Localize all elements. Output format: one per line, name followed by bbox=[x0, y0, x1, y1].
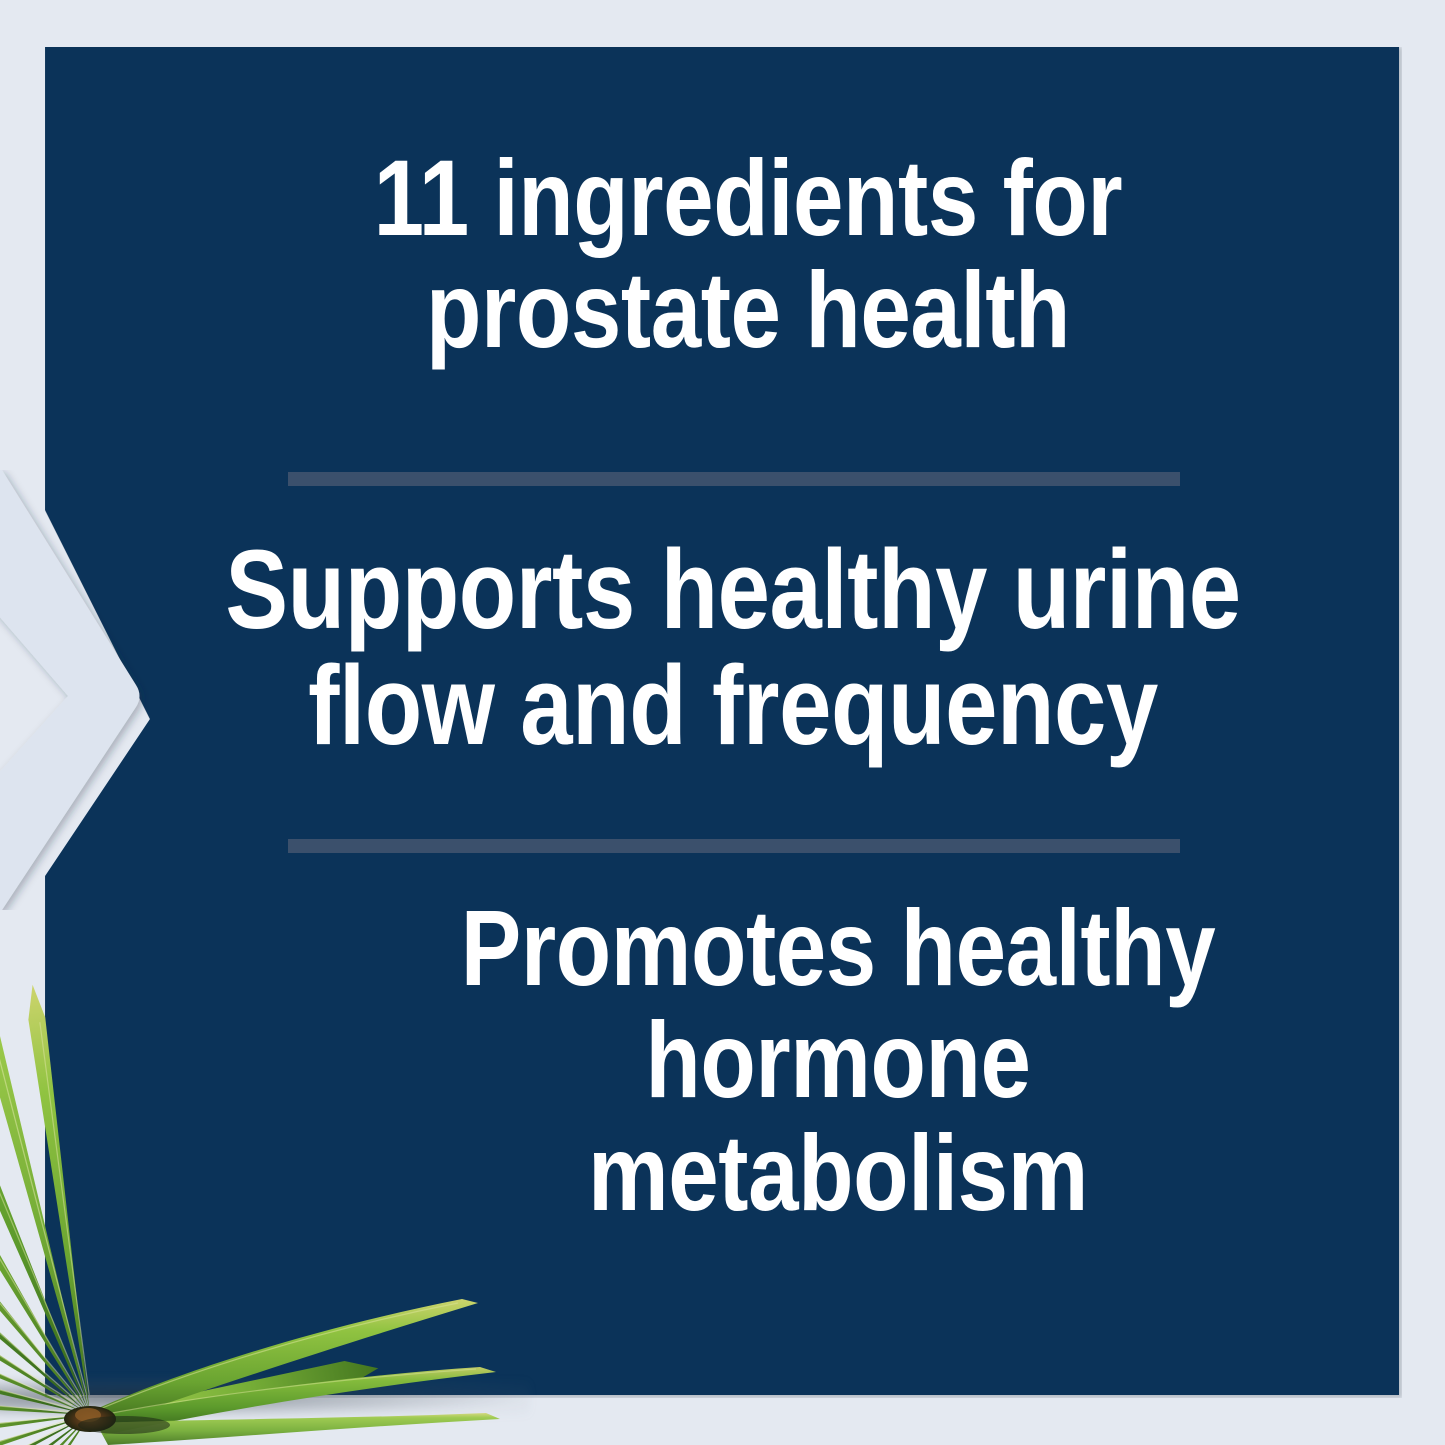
benefit-headline-hormone-metabolism: Promotes healthy hormone metabolism bbox=[384, 892, 1291, 1229]
benefit-headline-urine-flow: Supports healthy urine flow and frequenc… bbox=[208, 532, 1258, 765]
divider-2 bbox=[288, 839, 1180, 853]
benefit-headline-ingredients: 11 ingredients for prostate health bbox=[261, 142, 1235, 367]
content-column: 11 ingredients for prostate health Suppo… bbox=[48, 47, 1399, 1395]
divider-1 bbox=[288, 472, 1180, 486]
leaf-ground-shadow bbox=[0, 1378, 530, 1418]
promo-panel-root: 11 ingredients for prostate health Suppo… bbox=[0, 0, 1445, 1445]
